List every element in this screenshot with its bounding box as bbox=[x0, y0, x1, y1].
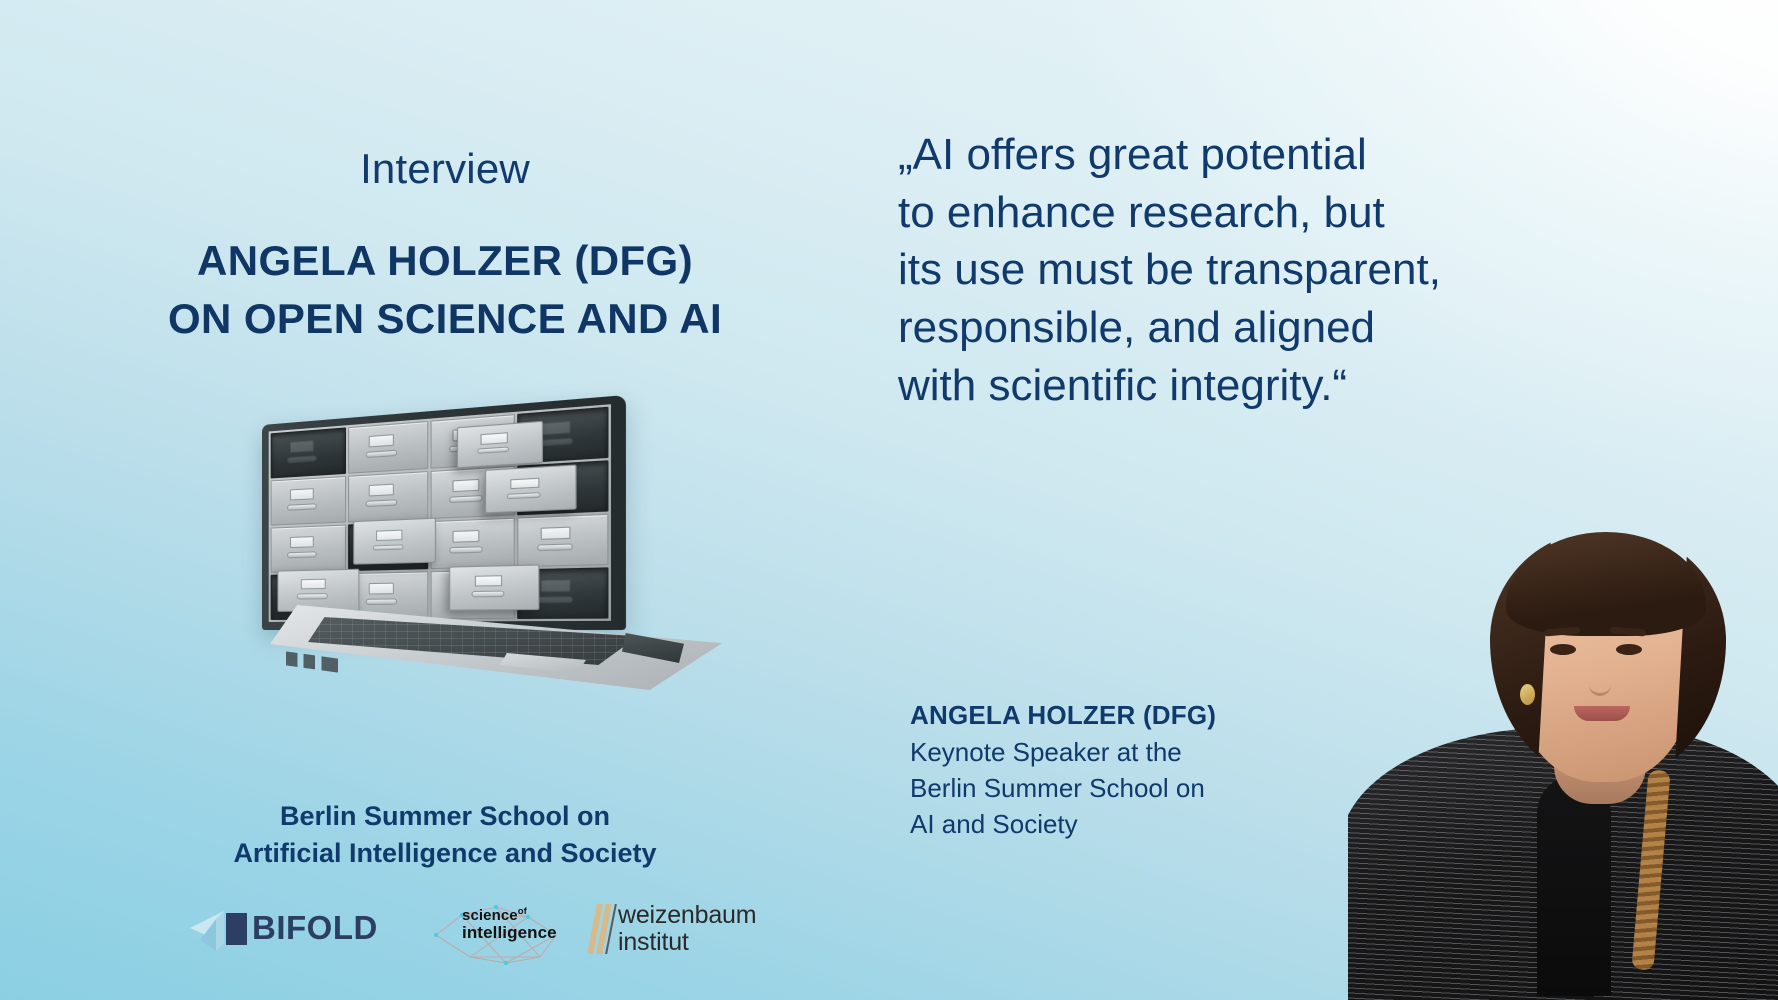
event-name-line-2: Artificial Intelligence and Society bbox=[0, 835, 890, 872]
weizenbaum-line-2: institut bbox=[618, 928, 689, 957]
weizenbaum-bars-icon bbox=[590, 904, 616, 954]
page-title: ANGELA HOLZER (DFG) ON OPEN SCIENCE AND … bbox=[0, 232, 890, 348]
science-of-intelligence-logo: scienceof intelligence bbox=[438, 895, 578, 969]
cabinet-drawer bbox=[517, 514, 608, 567]
laptop-ports bbox=[286, 651, 338, 672]
portrait-mouth bbox=[1574, 706, 1630, 721]
portrait-hair-fringe bbox=[1506, 532, 1706, 636]
soi-superscript: of bbox=[518, 906, 527, 917]
portrait-earring bbox=[1520, 684, 1535, 705]
soi-line-2: intelligence bbox=[462, 923, 557, 943]
soi-line-1: scienceof bbox=[462, 906, 527, 924]
bifold-wordmark: BIFOLD bbox=[252, 909, 378, 947]
pull-quote: „AI offers great potential to enhance re… bbox=[898, 126, 1518, 414]
event-name-line-1: Berlin Summer School on bbox=[0, 798, 890, 835]
eyebrow-label: Interview bbox=[0, 145, 890, 193]
headline-line-2: ON OPEN SCIENCE AND AI bbox=[0, 290, 890, 348]
open-drawer bbox=[353, 518, 436, 565]
quote-line-5: with scientific integrity.“ bbox=[898, 357, 1518, 415]
logo-row: BIFOLD scienceof intelligence bbox=[170, 895, 790, 969]
speaker-name: ANGELA HOLZER (DFG) bbox=[910, 698, 1250, 733]
announcement-card: Interview ANGELA HOLZER (DFG) ON OPEN SC… bbox=[0, 0, 1778, 1000]
cabinet-drawer bbox=[348, 471, 428, 522]
cabinet-drawer bbox=[430, 518, 515, 570]
left-column: Interview ANGELA HOLZER (DFG) ON OPEN SC… bbox=[0, 0, 890, 1000]
laptop-screen bbox=[269, 404, 611, 622]
bifold-logo: BIFOLD bbox=[190, 903, 420, 961]
weizenbaum-institut-logo: weizenbaum institut bbox=[590, 901, 765, 961]
open-drawer bbox=[456, 420, 542, 468]
speaker-role-line-3: AI and Society bbox=[910, 807, 1250, 843]
event-name: Berlin Summer School on Artificial Intel… bbox=[0, 798, 890, 871]
weizenbaum-line-1: weizenbaum bbox=[618, 901, 756, 930]
laptop-base bbox=[270, 605, 722, 690]
laptop-filing-cabinet-illustration bbox=[252, 425, 722, 690]
quote-line-2: to enhance research, but bbox=[898, 184, 1518, 242]
quote-line-4: responsible, and aligned bbox=[898, 299, 1518, 357]
headline-line-1: ANGELA HOLZER (DFG) bbox=[0, 232, 890, 290]
speaker-caption: ANGELA HOLZER (DFG) Keynote Speaker at t… bbox=[910, 698, 1250, 842]
quote-line-1: „AI offers great potential bbox=[898, 126, 1518, 184]
speaker-role-line-1: Keynote Speaker at the bbox=[910, 735, 1250, 771]
cabinet-drawer bbox=[271, 476, 346, 526]
open-drawer bbox=[485, 465, 577, 514]
quote-line-3: its use must be transparent, bbox=[898, 241, 1518, 299]
speaker-role: Keynote Speaker at the Berlin Summer Sch… bbox=[910, 735, 1250, 843]
portrait-nose bbox=[1589, 668, 1611, 696]
cabinet-drawer bbox=[348, 421, 428, 474]
bifold-mark-icon bbox=[190, 907, 248, 955]
speaker-role-line-2: Berlin Summer School on bbox=[910, 771, 1250, 807]
laptop-lid bbox=[262, 395, 626, 630]
portrait-eye-left bbox=[1550, 644, 1576, 655]
cabinet-drawer bbox=[271, 427, 346, 478]
cabinet-drawer bbox=[271, 525, 346, 573]
angela-holzer-portrait bbox=[1348, 470, 1778, 1000]
portrait-eye-right bbox=[1616, 644, 1642, 655]
